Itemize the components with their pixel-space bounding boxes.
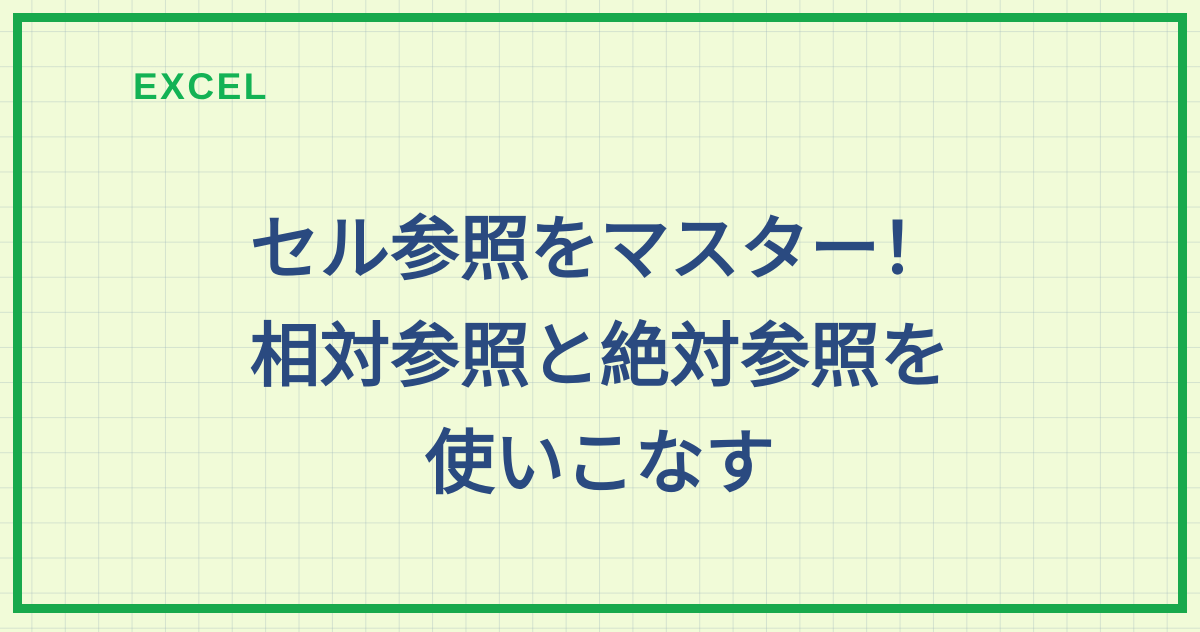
title-line-2: 相対参照と絶対参照を [60,303,1140,410]
title-line-1: セル参照をマスター！ [60,196,1140,303]
page-title: セル参照をマスター！ 相対参照と絶対参照を 使いこなす [60,196,1140,517]
category-label: EXCEL [133,68,269,105]
title-line-3: 使いこなす [60,410,1140,517]
excel-article-thumbnail: EXCEL セル参照をマスター！ 相対参照と絶対参照を 使いこなす [0,0,1200,632]
